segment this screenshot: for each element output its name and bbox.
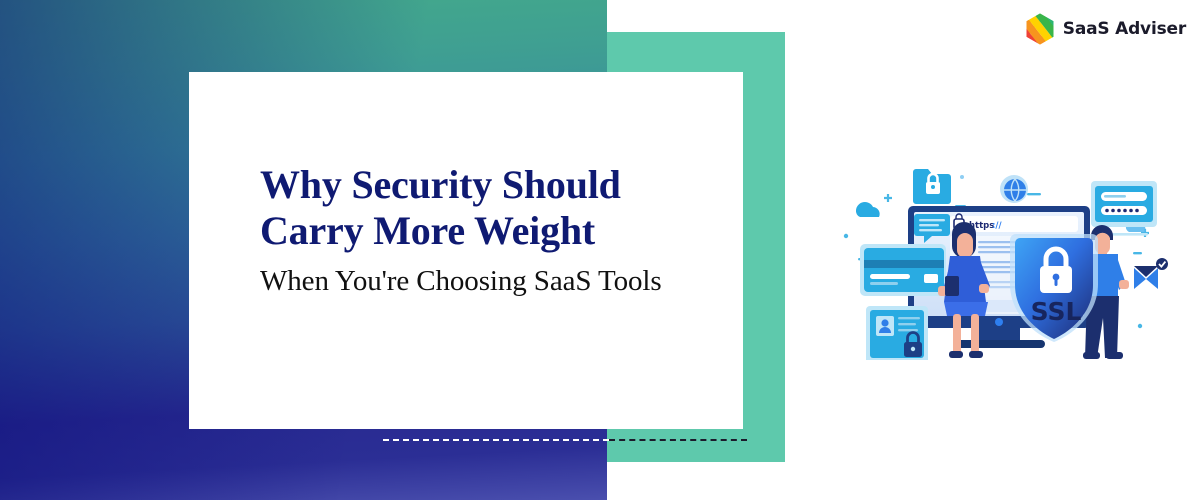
- brand-name: SaaS Adviser: [1063, 19, 1186, 39]
- svg-text:://: ://: [992, 221, 1003, 231]
- headline-line-2: Carry More Weight: [260, 208, 730, 254]
- saas-security-illustration: https ://: [838, 148, 1168, 360]
- globe-icon: [1000, 175, 1028, 203]
- banner-canvas: Why Security Should Carry More Weight Wh…: [0, 0, 1200, 500]
- page-title: Why Security Should Carry More Weight: [260, 162, 730, 254]
- id-card-lock-icon: [866, 306, 928, 360]
- brand-logo[interactable]: SaaS Adviser: [1025, 13, 1186, 45]
- locked-folder-icon: [913, 169, 951, 204]
- ssl-label: SSL: [1031, 297, 1082, 326]
- email-verified-icon: [1134, 258, 1168, 289]
- page-subtitle: When You're Choosing SaaS Tools: [260, 263, 730, 299]
- divider-dashed-left: [383, 439, 609, 441]
- cloud-icon: [856, 202, 880, 217]
- hexagon-s-logo-icon: [1025, 13, 1055, 45]
- headline-group: Why Security Should Carry More Weight Wh…: [260, 162, 730, 299]
- divider-dashed-right: [609, 439, 747, 441]
- headline-line-1: Why Security Should: [260, 162, 621, 207]
- credit-card-icon: [860, 244, 946, 296]
